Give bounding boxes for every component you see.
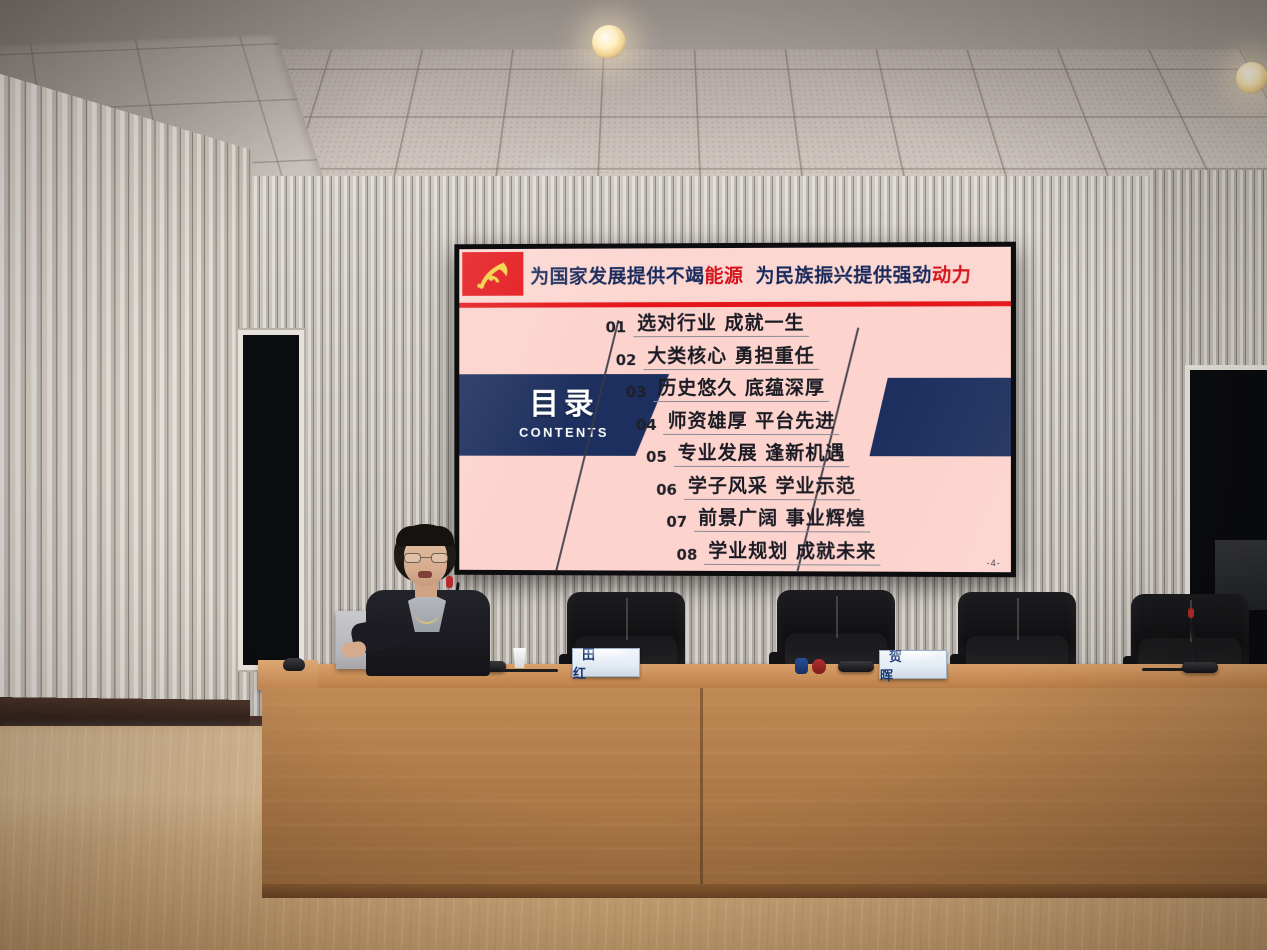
nameplate-text: 田 红: [573, 644, 639, 682]
projection-screen[interactable]: 为国家发展提供不竭能源为民族振兴提供强劲动力 目录 CONTENTS 01选对行…: [454, 242, 1016, 578]
contents-item-number: 01: [606, 320, 627, 337]
conference-desk-front-panel: [262, 688, 1267, 898]
glasses-lens-left: [404, 553, 421, 563]
contents-item-number: 04: [636, 417, 657, 434]
contents-item-text: 师资雄厚 平台先进: [664, 411, 840, 434]
slide-header-band: 为国家发展提供不竭能源为民族振兴提供强劲动力: [459, 247, 1011, 301]
cpc-hammer-sickle-emblem: [462, 252, 523, 296]
glasses-icon: [404, 553, 448, 563]
contents-list-item: 06学子风采 学业示范: [656, 476, 860, 499]
desk-wood-grain: [262, 688, 1267, 898]
presenter-hair-front: [396, 526, 454, 546]
contents-list-item: 08学业规划 成就未来: [677, 541, 881, 565]
presentation-slide: 为国家发展提供不竭能源为民族振兴提供强劲动力 目录 CONTENTS 01选对行…: [459, 247, 1011, 572]
microphone-base: [838, 661, 874, 672]
slide-page-number: -4-: [987, 558, 1001, 568]
desk-panel-seam: [700, 688, 703, 898]
ceiling-downlight: [1236, 62, 1267, 94]
contents-item-number: 03: [626, 385, 647, 402]
microphone-cable: [500, 669, 558, 672]
contents-list-item: 07前景广阔 事业辉煌: [666, 509, 870, 533]
slide-header-text: 为国家发展提供不竭能源为民族振兴提供强劲动力: [530, 253, 1005, 295]
contents-item-text: 专业发展 逢新机遇: [674, 444, 850, 467]
ceiling-downlight: [592, 25, 626, 59]
header-line-2-accent: 动力: [932, 260, 971, 287]
contents-list-item: 03历史悠久 底蕴深厚: [626, 379, 829, 402]
presenter-mouth: [418, 571, 432, 578]
nameplate-text: 贺 晖: [880, 646, 946, 684]
red-desk-object: [812, 659, 826, 674]
doorway-left: [243, 335, 299, 665]
contents-list: 01选对行业 成就一生02大类核心 勇担重任03历史悠久 底蕴深厚04师资雄厚 …: [459, 307, 1011, 572]
contents-item-number: 05: [646, 450, 667, 467]
microphone-head: [1188, 608, 1194, 618]
contents-item-number: 02: [616, 353, 637, 370]
contents-item-text: 学子风采 学业示范: [684, 476, 860, 499]
header-line-2: 为民族振兴提供强劲: [756, 260, 932, 288]
contents-item-text: 学业规划 成就未来: [704, 541, 880, 565]
presenter: [366, 524, 490, 674]
header-line-1-accent: 能源: [705, 260, 744, 287]
contents-list-item: 02大类核心 勇担重任: [616, 346, 819, 369]
contents-item-number: 08: [677, 547, 698, 564]
baseboard-left: [0, 697, 250, 730]
glasses-bridge: [421, 557, 431, 558]
microphone-cable: [1142, 668, 1188, 671]
contents-list-item: 04师资雄厚 平台先进: [636, 411, 839, 434]
chair-back: [958, 592, 1076, 674]
computer-mouse[interactable]: [283, 658, 305, 671]
blue-desk-object: [795, 658, 808, 674]
chair-seam: [626, 598, 628, 640]
contents-item-text: 前景广阔 事业辉煌: [694, 509, 870, 533]
lecture-hall-photo: 为国家发展提供不竭能源为民族振兴提供强劲动力 目录 CONTENTS 01选对行…: [0, 0, 1267, 950]
chair-seam: [1017, 598, 1019, 640]
contents-list-item: 01选对行业 成就一生: [606, 314, 809, 337]
contents-item-text: 大类核心 勇担重任: [643, 346, 818, 369]
nameplate: 贺 晖: [879, 650, 947, 679]
contents-item-text: 选对行业 成就一生: [633, 314, 808, 337]
contents-item-number: 07: [666, 515, 687, 532]
contents-item-number: 06: [656, 482, 677, 499]
desk-bottom-edge: [262, 884, 1267, 898]
header-line-1: 为国家发展提供不竭: [530, 261, 704, 289]
glasses-lens-right: [431, 553, 448, 563]
chair-seam: [836, 596, 838, 638]
nameplate: 田 红: [572, 648, 640, 677]
contents-list-item: 05专业发展 逢新机遇: [646, 444, 850, 467]
contents-item-text: 历史悠久 底蕴深厚: [653, 379, 829, 402]
